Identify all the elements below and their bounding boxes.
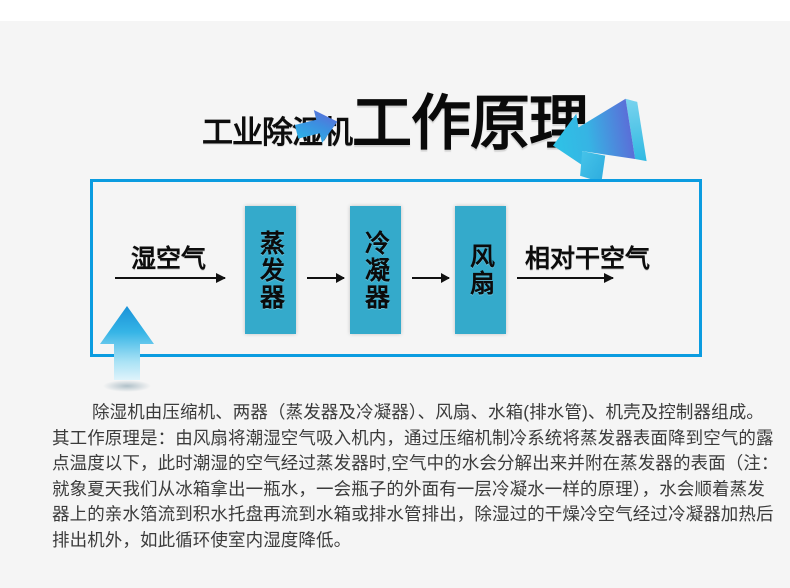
body-line: 除湿机由压缩机、两器（蒸发器及冷凝器）、风扇、水箱(排水管)、机壳及控制器组成。 — [52, 400, 742, 426]
unit-evaporator: 蒸发器 — [245, 206, 296, 334]
page-root: 工业除湿机 工作原理 — [0, 0, 790, 588]
header-banner: 工业除湿机 工作原理 — [0, 46, 790, 156]
unit-fan-label: 风扇 — [467, 243, 495, 297]
body-paragraph: 除湿机由压缩机、两器（蒸发器及冷凝器）、风扇、水箱(排水管)、机壳及控制器组成。… — [52, 400, 742, 553]
body-line: 就象夏天我们从冰箱拿出一瓶水，一会瓶子的外面有一层冷凝水一样的原理），水会顺着蒸… — [52, 477, 742, 503]
arrow-right-icon — [288, 104, 344, 150]
arrow-right-icon-input — [115, 277, 225, 279]
arrow-right-icon-output — [517, 277, 613, 279]
arrow-up-icon — [96, 304, 158, 392]
body-line: 排出机外，如此循环使室内湿度降低。 — [52, 528, 742, 554]
unit-condenser: 冷凝器 — [350, 206, 401, 334]
page-title: 工业除湿机 工作原理 — [0, 46, 790, 156]
diagram-input-label: 湿空气 — [131, 239, 206, 275]
unit-evaporator-label: 蒸发器 — [257, 230, 285, 311]
process-diagram: 湿空气 蒸发器 冷凝器 风扇 相对干空气 — [90, 179, 702, 357]
unit-fan: 风扇 — [455, 206, 506, 334]
body-line: 其工作原理是：由风扇将潮湿空气吸入机内，通过压缩机制冷系统将蒸发器表面降到空气的… — [52, 426, 742, 452]
unit-condenser-label: 冷凝器 — [362, 230, 390, 311]
body-line: 器上的亲水箔流到积水托盘再流到水箱或排水管排出，除湿过的干燥冷空气经过冷凝器加热… — [52, 502, 742, 528]
arrow-right-icon-2 — [412, 277, 449, 279]
arrow-right-icon-1 — [307, 277, 344, 279]
diagram-output-label: 相对干空气 — [525, 239, 650, 275]
body-line: 点温度以下，此时潮湿的空气经过蒸发器时,空气中的水会分解出来并附在蒸发器的表面（… — [52, 451, 742, 477]
diagram-inner: 湿空气 蒸发器 冷凝器 风扇 相对干空气 — [93, 182, 699, 354]
